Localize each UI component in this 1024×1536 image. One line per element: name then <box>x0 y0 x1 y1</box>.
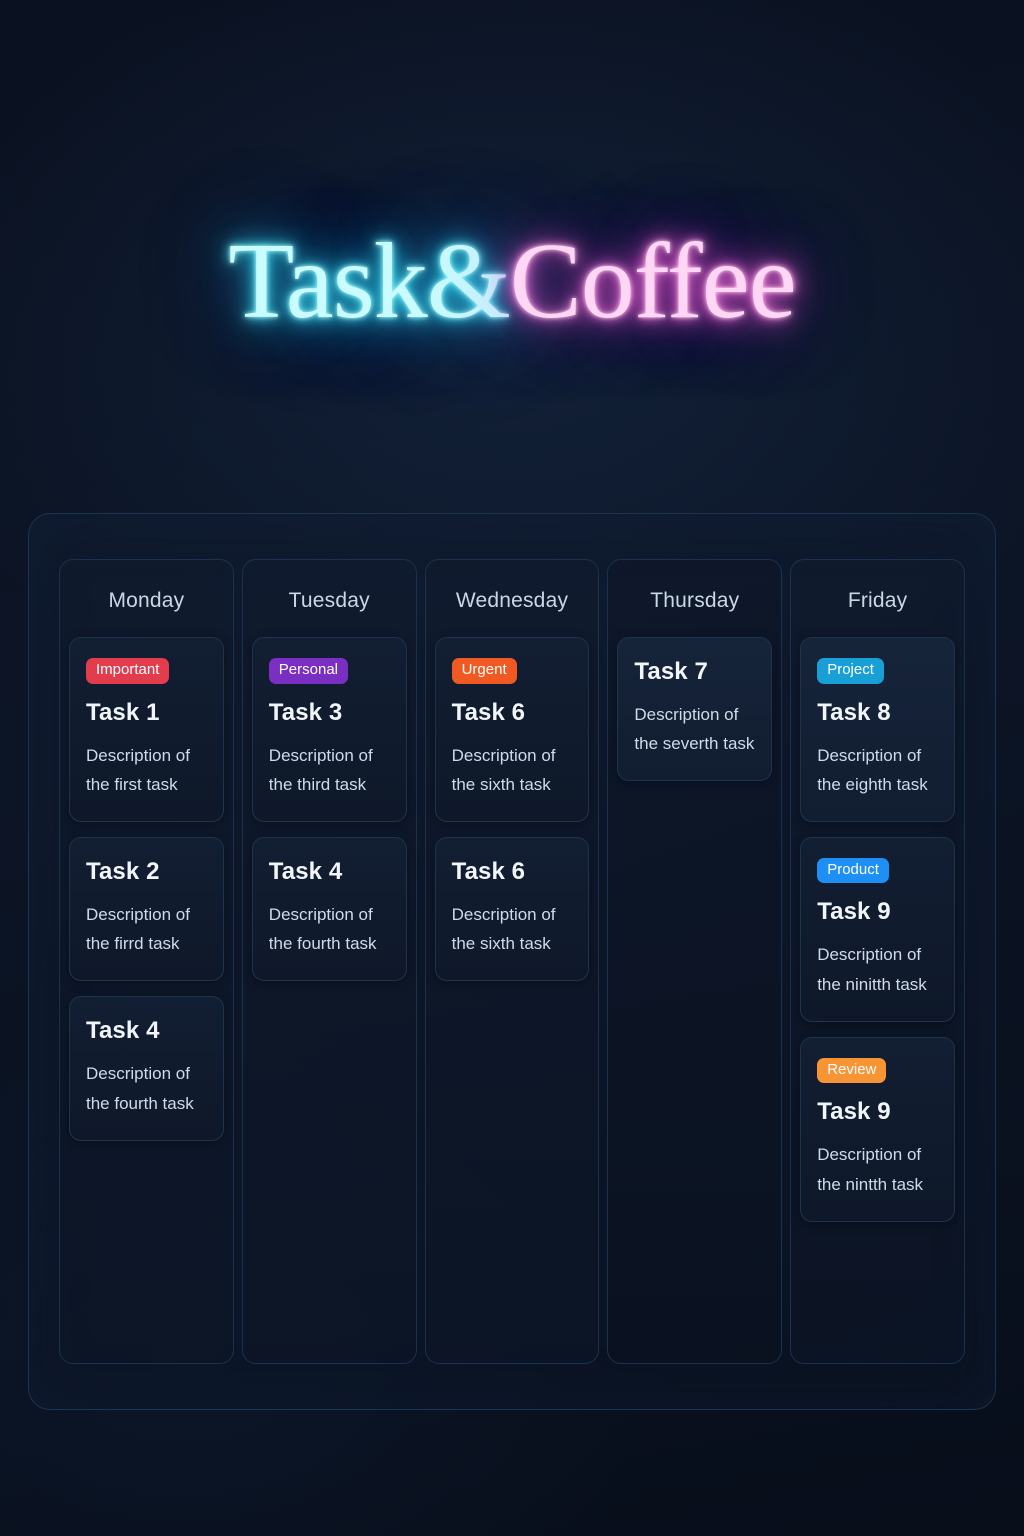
task-description: Description of the fourth task <box>86 1059 207 1117</box>
task-card-list: Task 7Description of the severth task <box>617 637 772 781</box>
task-card[interactable]: ProjectTask 8Description of the eighth t… <box>800 637 955 822</box>
day-columns: MondayImportantTask 1Description of the … <box>59 559 965 1364</box>
task-card[interactable]: Task 7Description of the severth task <box>617 637 772 781</box>
task-card-list: PersonalTask 3Description of the third t… <box>252 637 407 981</box>
task-description: Description of the first task <box>86 741 207 799</box>
day-column-tuesday[interactable]: TuesdayPersonalTask 3Description of the … <box>242 559 417 1364</box>
task-description: Description of the nintth task <box>817 1140 938 1198</box>
task-card-list: ImportantTask 1Description of the first … <box>69 637 224 1141</box>
task-title: Task 4 <box>86 1017 207 1045</box>
task-card[interactable]: ReviewTask 9Description of the nintth ta… <box>800 1037 955 1222</box>
day-column-header: Tuesday <box>252 570 407 637</box>
task-description: Description of the severth task <box>634 700 755 758</box>
task-badge[interactable]: Personal <box>269 658 348 684</box>
task-badge[interactable]: Urgent <box>452 658 517 684</box>
task-card[interactable]: Task 4Description of the fourth task <box>252 837 407 981</box>
task-title: Task 2 <box>86 858 207 886</box>
app-title: Task&Coffee <box>0 228 1024 336</box>
title-segment-task: Task& <box>228 222 509 341</box>
task-card[interactable]: Task 6Description of the sixth task <box>435 837 590 981</box>
task-description: Description of the fourth task <box>269 900 390 958</box>
day-column-header: Friday <box>800 570 955 637</box>
task-card[interactable]: ProductTask 9Description of the ninitth … <box>800 837 955 1022</box>
task-card[interactable]: Task 4Description of the fourth task <box>69 996 224 1140</box>
task-title: Task 9 <box>817 898 938 926</box>
task-description: Description of the third task <box>269 741 390 799</box>
task-card[interactable]: Task 2Description of the firrd task <box>69 837 224 981</box>
task-card[interactable]: UrgentTask 6Description of the sixth tas… <box>435 637 590 822</box>
task-title: Task 1 <box>86 699 207 727</box>
task-card[interactable]: ImportantTask 1Description of the first … <box>69 637 224 822</box>
title-segment-coffee: Coffee <box>510 222 796 341</box>
task-badge[interactable]: Important <box>86 658 169 684</box>
task-badge[interactable]: Review <box>817 1058 886 1084</box>
task-card[interactable]: PersonalTask 3Description of the third t… <box>252 637 407 822</box>
task-card-list: ProjectTask 8Description of the eighth t… <box>800 637 955 1222</box>
task-badge[interactable]: Project <box>817 658 884 684</box>
day-column-header: Thursday <box>617 570 772 637</box>
task-title: Task 8 <box>817 699 938 727</box>
neon-title: Task&Coffee <box>228 228 795 336</box>
day-column-header: Wednesday <box>435 570 590 637</box>
day-column-header: Monday <box>69 570 224 637</box>
task-badge[interactable]: Product <box>817 858 889 884</box>
task-card-list: UrgentTask 6Description of the sixth tas… <box>435 637 590 981</box>
task-description: Description of the firrd task <box>86 900 207 958</box>
day-column-thursday[interactable]: ThursdayTask 7Description of the severth… <box>607 559 782 1364</box>
task-title: Task 4 <box>269 858 390 886</box>
task-title: Task 6 <box>452 858 573 886</box>
task-description: Description of the sixth task <box>452 741 573 799</box>
task-title: Task 6 <box>452 699 573 727</box>
day-column-wednesday[interactable]: WednesdayUrgentTask 6Description of the … <box>425 559 600 1364</box>
task-description: Description of the ninitth task <box>817 940 938 998</box>
task-board: MondayImportantTask 1Description of the … <box>28 513 996 1410</box>
task-title: Task 7 <box>634 658 755 686</box>
task-description: Description of the sixth task <box>452 900 573 958</box>
task-title: Task 3 <box>269 699 390 727</box>
day-column-friday[interactable]: FridayProjectTask 8Description of the ei… <box>790 559 965 1364</box>
day-column-monday[interactable]: MondayImportantTask 1Description of the … <box>59 559 234 1364</box>
task-title: Task 9 <box>817 1098 938 1126</box>
task-description: Description of the eighth task <box>817 741 938 799</box>
